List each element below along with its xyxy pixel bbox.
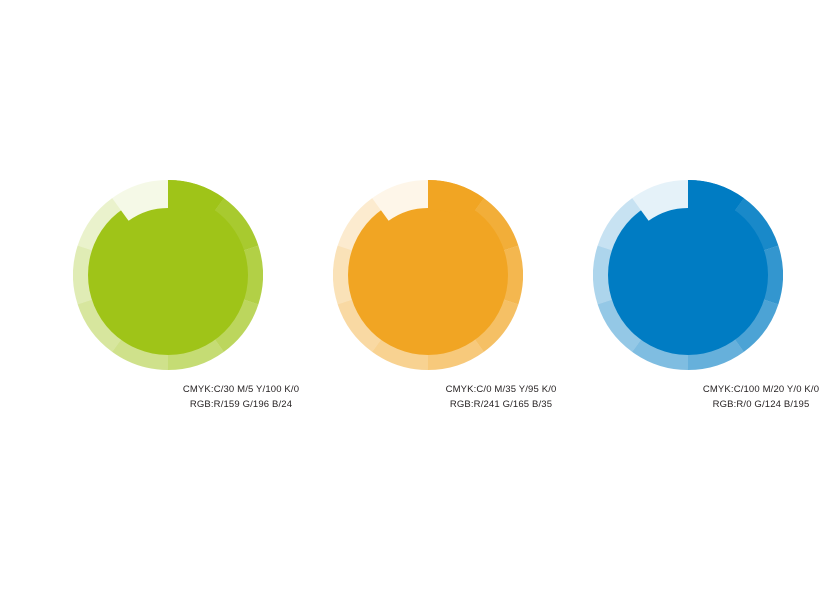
orange-swatch-graphic (333, 180, 523, 370)
swatch-core (348, 195, 508, 355)
orange-swatch[interactable]: CMYK:C/0 M/35 Y/95 K/0 RGB:R/241 G/165 B… (333, 180, 523, 370)
blue-swatch-caption: CMYK:C/100 M/20 Y/0 K/0 RGB:R/0 G/124 B/… (601, 382, 838, 412)
swatch-core (88, 195, 248, 355)
blue-swatch-graphic (593, 180, 783, 370)
blue-cmyk-label: CMYK:C/100 M/20 Y/0 K/0 (601, 382, 838, 397)
blue-rgb-label: RGB:R/0 G/124 B/195 (601, 397, 838, 412)
blue-swatch[interactable]: CMYK:C/100 M/20 Y/0 K/0 RGB:R/0 G/124 B/… (593, 180, 783, 370)
palette-board: CMYK:C/30 M/5 Y/100 K/0 RGB:R/159 G/196 … (0, 0, 838, 597)
swatch-core (608, 195, 768, 355)
green-swatch-graphic (73, 180, 263, 370)
green-swatch[interactable]: CMYK:C/30 M/5 Y/100 K/0 RGB:R/159 G/196 … (73, 180, 263, 370)
